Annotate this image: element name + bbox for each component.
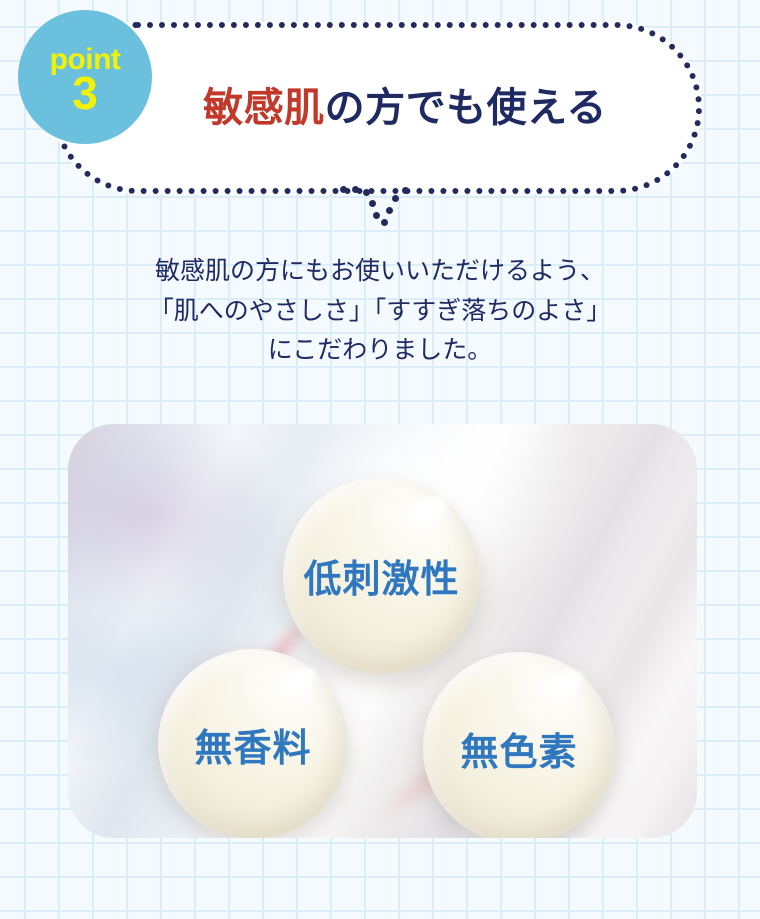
bubble-content: 敏感肌の方でも使える <box>58 28 696 188</box>
tail-dot <box>369 200 376 207</box>
droplet-badge-colorant-free: 無色素 <box>423 652 615 838</box>
tail-dot <box>386 207 393 214</box>
point-badge: point 3 <box>18 10 152 144</box>
product-photo-card: 低刺激性 無香料 無色素 <box>68 424 697 838</box>
bubble-tail <box>340 186 412 232</box>
description-line-1: 敏感肌の方にもお使いいただけるよう、 <box>0 252 760 292</box>
tail-dot <box>381 219 388 226</box>
page-root: 敏感肌の方でも使える point 3 敏感肌の方にもお使いいただけるよう、 「肌… <box>0 0 760 919</box>
droplet-badge-low-irritation: 低刺激性 <box>283 477 480 674</box>
droplet-badge-fragrance-free: 無香料 <box>158 649 348 838</box>
tail-dot <box>392 195 399 202</box>
description-text: 敏感肌の方にもお使いいただけるよう、 「肌へのやさしさ」「すすぎ落ちのよさ」 に… <box>0 252 760 371</box>
tail-dot <box>363 189 370 196</box>
title-rest: の方でも使える <box>325 86 607 130</box>
tail-dot <box>373 212 380 219</box>
point-badge-number: 3 <box>72 72 98 116</box>
description-line-2: 「肌へのやさしさ」「すすぎ落ちのよさ」 <box>0 292 760 332</box>
page-title: 敏感肌の方でも使える <box>147 88 607 128</box>
droplet-label: 無色素 <box>460 721 577 776</box>
bubble-dotted-border: 敏感肌の方でも使える <box>52 22 702 194</box>
tail-dot <box>402 187 409 194</box>
title-highlight: 敏感肌 <box>203 86 325 130</box>
description-line-3: にこだわりました。 <box>0 331 760 371</box>
tail-dot <box>352 186 359 193</box>
tail-dot <box>340 186 347 193</box>
droplet-label: 無香料 <box>194 717 311 772</box>
headline-bubble: 敏感肌の方でも使える <box>52 22 702 194</box>
droplet-label: 低刺激性 <box>303 548 459 603</box>
